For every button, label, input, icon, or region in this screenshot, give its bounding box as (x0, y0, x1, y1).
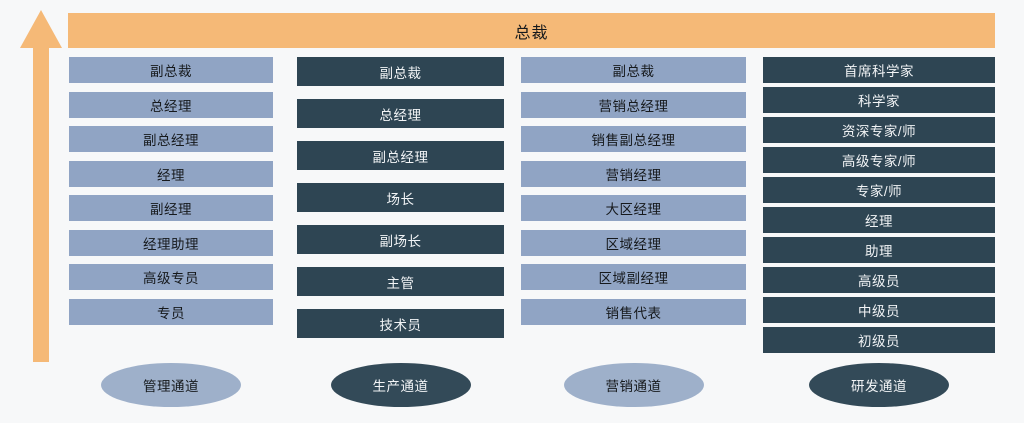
ladder-rung-label: 副经理 (150, 198, 192, 218)
ladder-rung-label: 区域副经理 (599, 267, 669, 287)
ladder-rung[interactable]: 助理 (763, 237, 995, 263)
ladder-rung-label: 销售代表 (606, 302, 662, 322)
ladder-rung-label: 区域经理 (606, 233, 662, 253)
channel-pill-production[interactable]: 生产通道 (331, 363, 471, 407)
ladder-rung-label: 经理 (865, 210, 893, 230)
ladder-rung-label: 副场长 (380, 230, 422, 250)
ladder-rung[interactable]: 副总裁 (297, 57, 504, 86)
channel-pill-research[interactable]: 研发通道 (809, 363, 949, 407)
ladder-rung-label: 中级员 (858, 300, 900, 320)
ladder-rung[interactable]: 专家/师 (763, 177, 995, 203)
ladder-rung[interactable]: 大区经理 (521, 195, 746, 221)
ladder-rung[interactable]: 副总经理 (69, 126, 273, 152)
ladder-rung-label: 高级员 (858, 270, 900, 290)
ladder-rung-label: 大区经理 (606, 198, 662, 218)
ladder-rung[interactable]: 主管 (297, 267, 504, 296)
ladder-rung[interactable]: 经理 (69, 161, 273, 187)
ladder-rung-label: 副总裁 (150, 60, 192, 80)
ladder-rung-label: 资深专家/师 (842, 120, 916, 140)
ladder-rung-label: 主管 (387, 272, 415, 292)
ladder-column-research: 首席科学家科学家资深专家/师高级专家/师专家/师经理助理高级员中级员初级员研发通… (763, 57, 995, 423)
ladder-rung[interactable]: 销售副总经理 (521, 126, 746, 152)
ladder-rung[interactable]: 经理 (763, 207, 995, 233)
ladder-rung[interactable]: 首席科学家 (763, 57, 995, 83)
channel-pill-label: 管理通道 (143, 375, 199, 395)
ladder-rung-label: 副总经理 (373, 146, 429, 166)
ladder-rung-label: 销售副总经理 (592, 129, 676, 149)
ladder-rung[interactable]: 营销总经理 (521, 92, 746, 118)
ladder-rung-label: 助理 (865, 240, 893, 260)
ladder-rung[interactable]: 技术员 (297, 309, 504, 338)
ladder-rung-label: 副总裁 (613, 60, 655, 80)
ladder-rung[interactable]: 高级员 (763, 267, 995, 293)
ladder-rung-label: 专家/师 (856, 180, 902, 200)
ladder-rung-label: 技术员 (380, 314, 422, 334)
ladder-rung-label: 首席科学家 (844, 60, 914, 80)
ladder-rung[interactable]: 副场长 (297, 225, 504, 254)
ladder-rung[interactable]: 高级专员 (69, 264, 273, 290)
ladder-rung[interactable]: 经理助理 (69, 230, 273, 256)
president-banner-label: 总裁 (514, 19, 548, 43)
ladder-rung-label: 经理助理 (143, 233, 199, 253)
ladder-rung-label: 总经理 (380, 104, 422, 124)
ladder-rung[interactable]: 总经理 (69, 92, 273, 118)
channel-pill-label: 研发通道 (851, 375, 907, 395)
ladder-column-production: 副总裁总经理副总经理场长副场长主管技术员生产通道 (297, 57, 504, 423)
ladder-rung[interactable]: 副经理 (69, 195, 273, 221)
ladder-rung[interactable]: 场长 (297, 183, 504, 212)
ladder-rung-label: 初级员 (858, 330, 900, 350)
ladder-rung-label: 高级专员 (143, 267, 199, 287)
ladder-rung-stack: 副总裁营销总经理销售副总经理营销经理大区经理区域经理区域副经理销售代表 (521, 57, 746, 325)
channel-pill-marketing[interactable]: 营销通道 (564, 363, 704, 407)
ladder-rung[interactable]: 高级专家/师 (763, 147, 995, 173)
channel-pill-management[interactable]: 管理通道 (101, 363, 241, 407)
ladder-rung-label: 场长 (387, 188, 415, 208)
ladder-rung-label: 营销总经理 (599, 95, 669, 115)
ladder-column-marketing: 副总裁营销总经理销售副总经理营销经理大区经理区域经理区域副经理销售代表营销通道 (521, 57, 746, 423)
ladder-column-management: 副总裁总经理副总经理经理副经理经理助理高级专员专员管理通道 (69, 57, 273, 423)
ladder-rung[interactable]: 初级员 (763, 327, 995, 353)
ladder-rung-label: 副总经理 (143, 129, 199, 149)
channel-pill-label: 生产通道 (373, 375, 429, 395)
ladder-rung[interactable]: 副总裁 (69, 57, 273, 83)
ladder-rung-label: 专员 (157, 302, 185, 322)
ladder-rung[interactable]: 副总裁 (521, 57, 746, 83)
ladder-rung[interactable]: 营销经理 (521, 161, 746, 187)
ladder-rung-stack: 首席科学家科学家资深专家/师高级专家/师专家/师经理助理高级员中级员初级员 (763, 57, 995, 353)
ladder-rung[interactable]: 资深专家/师 (763, 117, 995, 143)
ladder-rung[interactable]: 专员 (69, 299, 273, 325)
ladder-rung[interactable]: 销售代表 (521, 299, 746, 325)
career-ladder-diagram: 总裁 副总裁总经理副总经理经理副经理经理助理高级专员专员管理通道副总裁总经理副总… (0, 0, 1024, 423)
ladder-rung-label: 总经理 (150, 95, 192, 115)
ladder-rung-label: 经理 (157, 164, 185, 184)
ladder-rung-label: 科学家 (858, 90, 900, 110)
ladder-rung[interactable]: 科学家 (763, 87, 995, 113)
ladder-rung[interactable]: 副总经理 (297, 141, 504, 170)
ladder-rung[interactable]: 中级员 (763, 297, 995, 323)
ladder-rung-stack: 副总裁总经理副总经理场长副场长主管技术员 (297, 57, 504, 338)
channel-pill-label: 营销通道 (606, 375, 662, 395)
ladder-rung[interactable]: 区域副经理 (521, 264, 746, 290)
ladder-rung[interactable]: 总经理 (297, 99, 504, 128)
ladder-rung-stack: 副总裁总经理副总经理经理副经理经理助理高级专员专员 (69, 57, 273, 325)
ladder-rung-label: 高级专家/师 (842, 150, 916, 170)
president-banner: 总裁 (68, 13, 995, 48)
ladder-rung-label: 副总裁 (380, 62, 422, 82)
ladder-columns-area: 副总裁总经理副总经理经理副经理经理助理高级专员专员管理通道副总裁总经理副总经理场… (0, 57, 1024, 423)
ladder-rung[interactable]: 区域经理 (521, 230, 746, 256)
ladder-rung-label: 营销经理 (606, 164, 662, 184)
